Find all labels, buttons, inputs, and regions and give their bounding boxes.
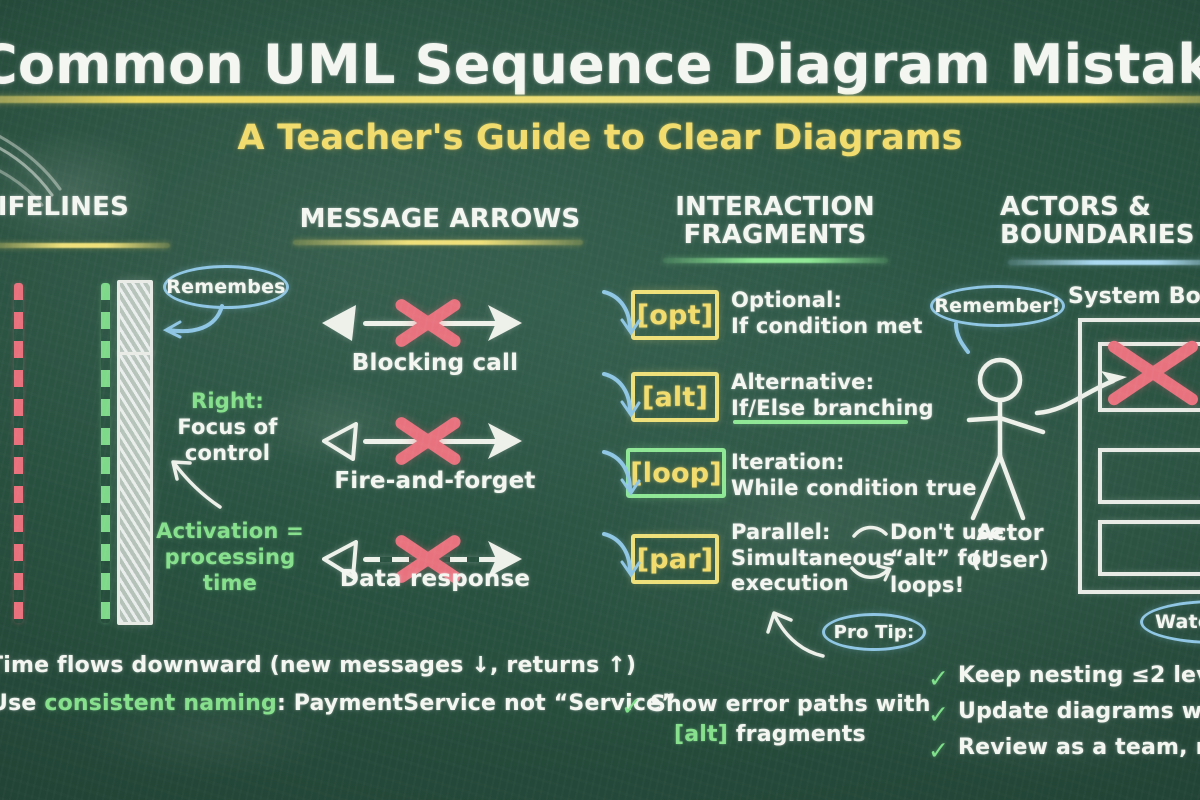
bullet-time-flows-downward: Time flows downward (new messages ↓, ret… bbox=[0, 652, 628, 681]
fragment-tag: [opt] bbox=[637, 300, 713, 331]
fragment-tag: [alt] bbox=[642, 382, 708, 413]
fragment-desc-alt: Alternative: If/Else branching bbox=[731, 370, 941, 421]
column-heading-interaction-fragments: INTERACTION FRAGMENTS bbox=[630, 193, 920, 249]
fragment-box-alt: [alt] bbox=[631, 372, 719, 422]
message-label-blocking-call: Blocking call bbox=[340, 350, 530, 376]
fragment-desc-line1: Parallel: bbox=[731, 520, 831, 544]
fragment-desc-line1: Optional: bbox=[731, 288, 842, 312]
fragment-tag: [par] bbox=[637, 544, 714, 575]
callout-oval-remember-actors: Remember! bbox=[930, 285, 1065, 327]
page-subtitle: A Teacher's Guide to Clear Diagrams bbox=[0, 118, 1200, 158]
bullet-update-diagrams: Update diagrams with code bbox=[958, 698, 1200, 727]
bullet-line2-tail: fragments bbox=[728, 722, 866, 747]
message-label-data-response: Data response bbox=[330, 566, 540, 592]
column-underline-message-arrows bbox=[293, 240, 583, 245]
bullet-review-as-team: Review as a team, not solo bbox=[958, 734, 1200, 763]
bullet-line1: Show error paths with bbox=[650, 692, 931, 717]
fragment-box-par: [par] bbox=[631, 534, 719, 584]
arrowhead-open-left-icon bbox=[320, 420, 360, 462]
activation-bar bbox=[117, 280, 153, 625]
arrow-to-opt-icon bbox=[600, 288, 640, 343]
callout-oval-label: Watch out! bbox=[1155, 611, 1200, 633]
label-activation-title: Activation = bbox=[156, 519, 304, 543]
page-title: Common UML Sequence Diagram Mistakes & F… bbox=[0, 33, 1200, 96]
check-icon: ✓ bbox=[928, 736, 949, 765]
fragment-desc-line1: Alternative: bbox=[731, 370, 874, 394]
bullet-consistent-naming: Use consistent naming: PaymentService no… bbox=[0, 690, 640, 719]
check-icon: ✓ bbox=[928, 700, 949, 729]
lifeline-dashed-red bbox=[14, 283, 23, 623]
speech-bubble-tail-icon bbox=[952, 322, 982, 357]
callout-oval-label: Pro Tip: bbox=[834, 622, 915, 643]
underline-if-else-branching bbox=[733, 420, 908, 424]
actor-label-line2: (User) bbox=[971, 548, 1049, 573]
red-cross-fire-and-forget bbox=[390, 410, 466, 472]
check-icon: ✓ bbox=[621, 692, 642, 721]
callout-oval-label: Remember! bbox=[934, 295, 1060, 317]
activation-bar-divider bbox=[117, 352, 153, 355]
column-underline-actors-boundaries bbox=[1008, 260, 1200, 265]
lifeline-dashed-green bbox=[101, 283, 110, 623]
fragment-tag: [loop] bbox=[630, 458, 722, 489]
fragment-desc-line2: If/Else branching bbox=[731, 396, 934, 420]
heading-line-2: FRAGMENTS bbox=[684, 220, 867, 250]
arrow-to-loop-icon bbox=[600, 448, 640, 503]
fragment-desc-opt: Optional: If condition met bbox=[731, 288, 931, 339]
heading-line-1: ACTORS & bbox=[1000, 192, 1151, 222]
bullet-text-pre: Use bbox=[0, 691, 44, 716]
callout-oval-pro-tip: Pro Tip: bbox=[822, 613, 926, 651]
fragment-desc-line1: Iteration: bbox=[731, 450, 845, 474]
red-cross-system-boundary bbox=[1100, 330, 1200, 416]
arrowhead-filled-left-icon bbox=[320, 302, 360, 344]
check-icon: ✓ bbox=[928, 664, 949, 693]
arrowhead-open-right-icon bbox=[480, 303, 524, 343]
column-heading-lifelines: LIFELINES bbox=[0, 193, 170, 221]
column-underline-interaction-fragments bbox=[663, 258, 888, 263]
fragment-desc-line2: While condition true bbox=[731, 476, 977, 500]
column-heading-message-arrows: MESSAGE ARROWS bbox=[280, 205, 600, 233]
system-boundary-label: System Boundary bbox=[1068, 283, 1200, 310]
message-label-fire-and-forget: Fire-and-forget bbox=[325, 468, 545, 494]
fragment-box-loop: [loop] bbox=[626, 448, 726, 498]
arrow-callout-to-activation-icon bbox=[150, 300, 230, 345]
fragment-box-opt: [opt] bbox=[631, 290, 719, 340]
arrowhead-open-right-icon bbox=[480, 421, 524, 461]
bullet-accent-alt: [alt] bbox=[674, 722, 728, 747]
squiggle-arrow-side-note-icon bbox=[852, 522, 894, 584]
actor-label-line1: Actor bbox=[976, 521, 1044, 546]
arrow-activation-pointer-icon bbox=[160, 455, 240, 515]
bullet-keep-nesting: Keep nesting ≤2 levels bbox=[958, 662, 1200, 691]
arrow-to-par-icon bbox=[600, 530, 640, 585]
bullet-text-post: : PaymentService not “Service” bbox=[277, 691, 676, 716]
bullet-text-accent: consistent naming bbox=[44, 691, 277, 716]
fragment-desc-loop: Iteration: While condition true bbox=[731, 450, 961, 501]
column-underline-lifelines bbox=[0, 243, 170, 248]
column-heading-actors-boundaries: ACTORS & BOUNDARIES bbox=[1000, 193, 1200, 249]
label-focus-title: Right: bbox=[191, 389, 264, 413]
callout-oval-label: Remembes bbox=[166, 276, 285, 298]
actor-label: Actor (User) bbox=[955, 520, 1065, 575]
label-activation-body: processingtime bbox=[165, 545, 296, 595]
side-note-line3: loops! bbox=[890, 573, 964, 597]
heading-line-1: INTERACTION bbox=[675, 192, 875, 222]
heading-line-2: BOUNDARIES bbox=[1000, 220, 1195, 250]
chalkboard: Common UML Sequence Diagram Mistakes & F… bbox=[0, 0, 1200, 800]
fragment-desc-line2: If condition met bbox=[731, 314, 923, 338]
label-activation-time: Activation = processingtime bbox=[150, 518, 310, 596]
red-cross-blocking-call bbox=[390, 292, 466, 354]
arrow-to-alt-icon bbox=[600, 370, 640, 425]
bullet-show-error-paths: Show error paths with [alt] fragments bbox=[650, 690, 930, 749]
fragment-desc-line3: execution bbox=[731, 571, 849, 595]
title-underline bbox=[0, 96, 1200, 103]
